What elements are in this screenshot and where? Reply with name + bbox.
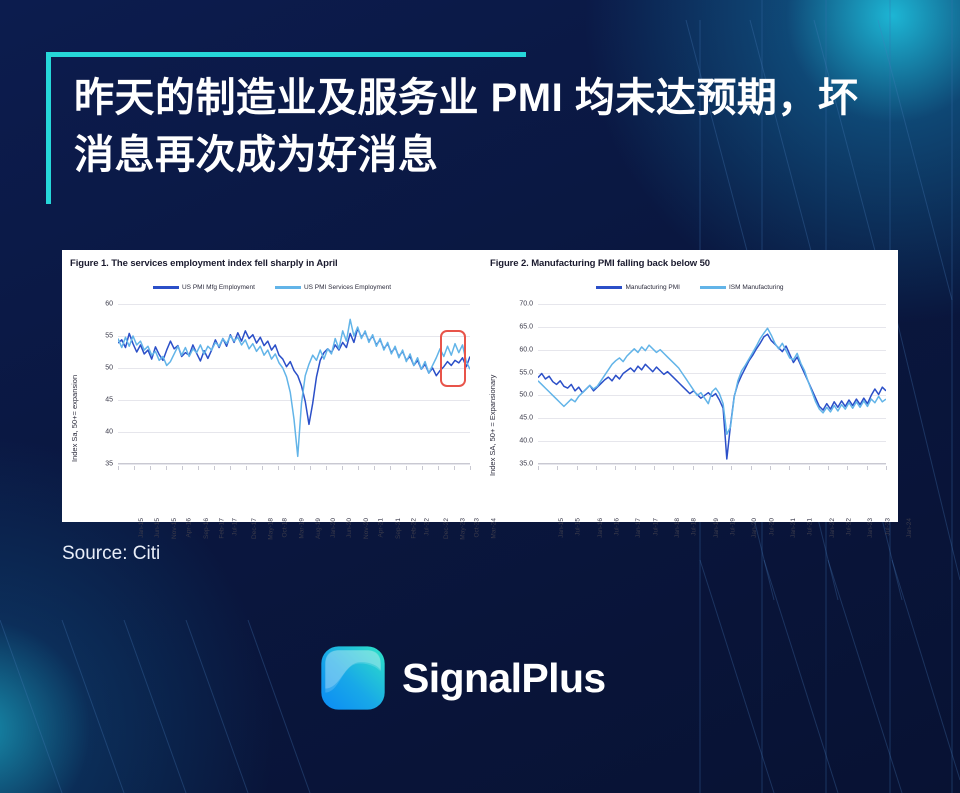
x-axis-tick-mark bbox=[326, 466, 327, 470]
x-axis-tick-label: Feb-22 bbox=[411, 518, 418, 539]
y-axis-tick-label: 35 bbox=[105, 461, 113, 468]
y-axis-tick-label: 60 bbox=[105, 301, 113, 308]
x-axis-tick-label: Sep-21 bbox=[395, 518, 402, 539]
data-series-line bbox=[538, 328, 886, 434]
x-axis-tick-label: Jan-23 bbox=[867, 518, 874, 538]
figure-2-plot-area: 70.065.060.055.050.045.040.035.0 bbox=[538, 304, 886, 464]
x-axis-tick-label: Oct-23 bbox=[474, 518, 481, 538]
x-axis-tick-label: Jan-15 bbox=[138, 518, 145, 538]
x-axis-tick-mark bbox=[406, 466, 407, 470]
x-axis-tick-mark bbox=[230, 466, 231, 470]
accent-bar-horizontal bbox=[46, 52, 526, 57]
title-block: 昨天的制造业及服务业 PMI 均未达预期，坏消息再次成为好消息 bbox=[46, 48, 876, 208]
x-axis-tick-label: Jul-18 bbox=[691, 518, 698, 536]
series-lines bbox=[118, 304, 470, 464]
x-axis-tick-mark bbox=[615, 466, 616, 470]
y-axis-tick-label: 45.0 bbox=[519, 415, 533, 422]
x-axis-tick-mark bbox=[654, 466, 655, 470]
legend-swatch-icon bbox=[700, 286, 726, 288]
x-axis-tick-label: Jun-20 bbox=[346, 518, 353, 538]
source-text: Source: Citi bbox=[62, 543, 160, 565]
x-axis-tick-label: Feb-17 bbox=[219, 518, 226, 539]
x-axis-tick-mark bbox=[438, 466, 439, 470]
data-series-line bbox=[118, 328, 470, 424]
x-axis-tick-mark bbox=[278, 466, 279, 470]
legend-label: Manufacturing PMI bbox=[625, 284, 680, 291]
x-axis-tick-mark bbox=[770, 466, 771, 470]
x-axis-tick-mark bbox=[342, 466, 343, 470]
x-axis-tick-mark bbox=[470, 466, 471, 470]
legend-label: US PMI Services Employment bbox=[304, 284, 391, 291]
x-axis-tick-label: Jan-15 bbox=[558, 518, 565, 538]
x-axis-tick-label: Dec-22 bbox=[443, 518, 450, 539]
x-axis-tick-mark bbox=[390, 466, 391, 470]
data-series-line bbox=[118, 319, 470, 456]
x-axis-tick-label: Apr-21 bbox=[378, 518, 385, 538]
figure-2-y-axis-label: Index SA, 50+ = Expansionary bbox=[488, 375, 497, 476]
x-axis-tick-mark bbox=[712, 466, 713, 470]
data-series-line bbox=[538, 334, 886, 459]
x-axis-tick-mark bbox=[182, 466, 183, 470]
x-axis-tick-mark bbox=[118, 466, 119, 470]
x-axis-tick-mark bbox=[886, 466, 887, 470]
x-axis-tick-mark bbox=[214, 466, 215, 470]
y-axis-tick-label: 35.0 bbox=[519, 461, 533, 468]
x-axis-tick-mark bbox=[809, 466, 810, 470]
x-axis-tick-label: May-18 bbox=[268, 518, 275, 540]
figure-1-y-axis-label: Index Sa, 50+= expansion bbox=[70, 375, 79, 462]
x-axis-tick-mark bbox=[374, 466, 375, 470]
y-axis-tick-label: 65.0 bbox=[519, 323, 533, 330]
x-axis-tick-mark bbox=[596, 466, 597, 470]
x-axis-tick-label: Jul-22 bbox=[846, 518, 853, 536]
legend-label: ISM Manufacturing bbox=[729, 284, 784, 291]
figure-2-title: Figure 2. Manufacturing PMI falling back… bbox=[490, 258, 710, 269]
y-axis-tick-label: 50.0 bbox=[519, 392, 533, 399]
x-axis-tick-label: Jan-20 bbox=[751, 518, 758, 538]
figure-1-x-axis-ticks: Jan-15Jun-15Nov-15Apr-16Sep-16Feb-17Jul-… bbox=[118, 466, 470, 518]
x-axis-tick-label: Jun-15 bbox=[154, 518, 161, 538]
x-axis-tick-label: Jul-17 bbox=[652, 518, 659, 536]
x-axis-tick-label: Sep-16 bbox=[203, 518, 210, 539]
x-axis-tick-mark bbox=[673, 466, 674, 470]
x-axis-tick-label: Jan-19 bbox=[713, 518, 720, 538]
figure-1-legend: US PMI Mfg Employment US PMI Services Em… bbox=[62, 284, 482, 291]
x-axis-tick-label: Jul-17 bbox=[232, 518, 239, 536]
figure-1-title: Figure 1. The services employment index … bbox=[70, 258, 338, 269]
figure-2: Figure 2. Manufacturing PMI falling back… bbox=[482, 250, 898, 522]
x-axis-tick-mark bbox=[577, 466, 578, 470]
x-axis-tick-mark bbox=[789, 466, 790, 470]
x-axis-tick-label: Jul-19 bbox=[730, 518, 737, 536]
legend-swatch-icon bbox=[275, 286, 301, 288]
x-axis-tick-label: Nov-20 bbox=[363, 518, 370, 539]
x-axis-tick-mark bbox=[847, 466, 848, 470]
figure-2-x-axis-ticks: Jan-15Jul-15Jan-16Jul-16Jan-17Jul-17Jan-… bbox=[538, 466, 886, 518]
x-axis-tick-label: Jan-16 bbox=[597, 518, 604, 538]
y-axis-tick-label: 55 bbox=[105, 333, 113, 340]
x-axis-tick-label: Oct-18 bbox=[282, 518, 289, 538]
x-axis-tick-label: Jan-17 bbox=[635, 518, 642, 538]
x-axis-tick-mark bbox=[538, 466, 539, 470]
x-axis-tick-label: Nov-15 bbox=[171, 518, 178, 539]
x-axis-tick-label: Jul-21 bbox=[807, 518, 814, 536]
chart-panel: Figure 1. The services employment index … bbox=[62, 250, 898, 522]
x-axis-tick-mark bbox=[166, 466, 167, 470]
y-axis-tick-label: 40.0 bbox=[519, 438, 533, 445]
legend-item: US PMI Mfg Employment bbox=[153, 284, 255, 291]
y-axis-tick-label: 50 bbox=[105, 365, 113, 372]
x-axis-tick-label: Jan-20 bbox=[330, 518, 337, 538]
x-axis-tick-label: Jul-22 bbox=[424, 518, 431, 536]
x-axis-tick-mark bbox=[422, 466, 423, 470]
x-axis-tick-mark bbox=[867, 466, 868, 470]
x-axis-tick-label: Jan-21 bbox=[790, 518, 797, 538]
y-axis-tick-label: 70.0 bbox=[519, 301, 533, 308]
x-axis-tick-mark bbox=[134, 466, 135, 470]
y-axis-tick-label: 60.0 bbox=[519, 346, 533, 353]
brand-name: SignalPlus bbox=[402, 655, 606, 702]
x-axis-tick-label: Apr-16 bbox=[186, 518, 193, 538]
x-axis-tick-mark bbox=[294, 466, 295, 470]
x-axis-tick-mark bbox=[731, 466, 732, 470]
figure-1-plot-area: 605550454035 bbox=[118, 304, 470, 464]
figure-2-legend: Manufacturing PMI ISM Manufacturing bbox=[482, 284, 898, 291]
gridline bbox=[538, 464, 886, 465]
accent-bar-vertical bbox=[46, 52, 51, 204]
x-axis-tick-mark bbox=[358, 466, 359, 470]
x-axis-tick-label: Jan-22 bbox=[829, 518, 836, 538]
x-axis-tick-mark bbox=[198, 466, 199, 470]
legend-item: Manufacturing PMI bbox=[596, 284, 680, 291]
x-axis-tick-label: Jul-16 bbox=[614, 518, 621, 536]
x-axis-tick-mark bbox=[454, 466, 455, 470]
legend-swatch-icon bbox=[153, 286, 179, 288]
legend-item: US PMI Services Employment bbox=[275, 284, 391, 291]
y-axis-tick-label: 45 bbox=[105, 397, 113, 404]
legend-label: US PMI Mfg Employment bbox=[182, 284, 255, 291]
x-axis-tick-label: Jul-23 bbox=[884, 518, 891, 536]
figure-1: Figure 1. The services employment index … bbox=[62, 250, 482, 522]
x-axis-tick-mark bbox=[557, 466, 558, 470]
x-axis-tick-label: Jul-20 bbox=[768, 518, 775, 536]
x-axis-tick-mark bbox=[246, 466, 247, 470]
legend-swatch-icon bbox=[596, 286, 622, 288]
y-axis-tick-label: 55.0 bbox=[519, 369, 533, 376]
legend-item: ISM Manufacturing bbox=[700, 284, 784, 291]
x-axis-tick-mark bbox=[262, 466, 263, 470]
x-axis-tick-label: Jul-15 bbox=[575, 518, 582, 536]
x-axis-tick-label: Jan-24 bbox=[906, 518, 913, 538]
x-axis-tick-label: Mar-19 bbox=[299, 518, 306, 539]
x-axis-tick-label: Jan-18 bbox=[674, 518, 681, 538]
x-axis-tick-mark bbox=[635, 466, 636, 470]
x-axis-tick-mark bbox=[150, 466, 151, 470]
x-axis-tick-mark bbox=[751, 466, 752, 470]
brand-logo: SignalPlus bbox=[320, 645, 606, 711]
x-axis-tick-mark bbox=[693, 466, 694, 470]
x-axis-tick-mark bbox=[828, 466, 829, 470]
page-title: 昨天的制造业及服务业 PMI 均未达预期，坏消息再次成为好消息 bbox=[74, 70, 874, 184]
x-axis-tick-label: Dec-17 bbox=[251, 518, 258, 539]
x-axis-tick-label: May-23 bbox=[460, 518, 467, 540]
series-lines bbox=[538, 304, 886, 464]
y-axis-tick-label: 40 bbox=[105, 429, 113, 436]
signalplus-logo-icon bbox=[320, 645, 386, 711]
x-axis-tick-label: Aug-19 bbox=[315, 518, 322, 539]
x-axis-tick-mark bbox=[310, 466, 311, 470]
gridline bbox=[118, 464, 470, 465]
